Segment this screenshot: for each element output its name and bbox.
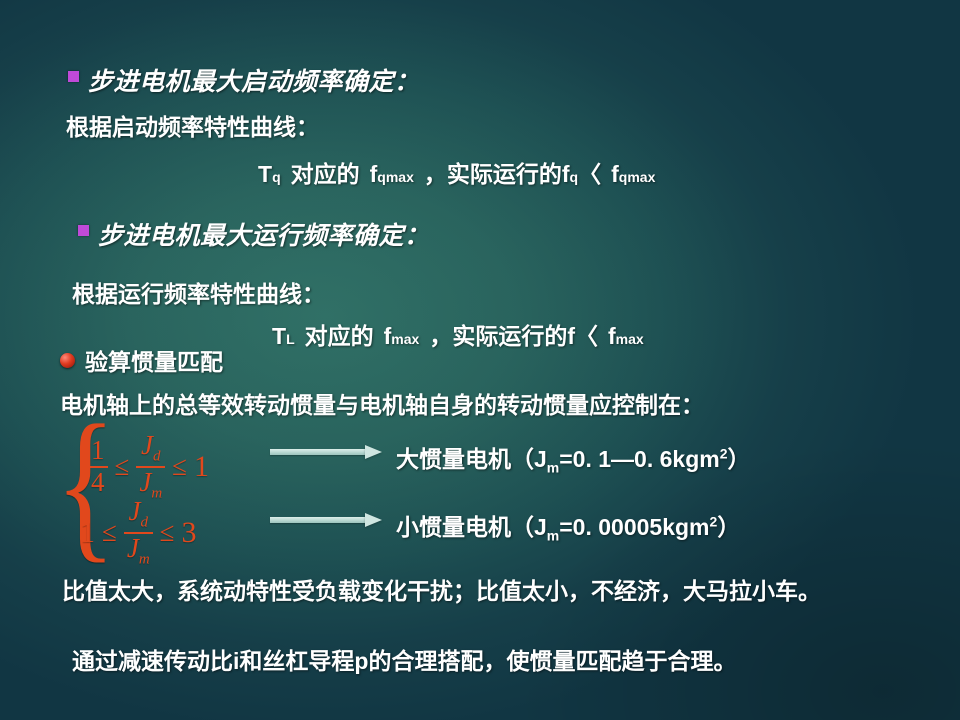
motor-label-2-name: 小惯量电机（J <box>396 514 547 540</box>
formula-2-relation: 〈 <box>575 317 598 351</box>
formula-2-bound-sub: max <box>616 331 644 347</box>
formula-2-tail: 实际运行的f <box>452 317 575 351</box>
equation-1-right: 1 <box>194 450 209 484</box>
formula-2-bound: f <box>608 323 616 350</box>
formula-1-lead: T <box>258 161 272 188</box>
equation-2-op1: ≤ <box>102 517 117 548</box>
intro-text-1: 根据启动频率特性曲线： <box>66 108 319 142</box>
formula-1-lead-sub: q <box>272 169 281 185</box>
red-ball-bullet-icon <box>60 353 75 368</box>
equation-1: 1 4 ≤ Jd Jm ≤ 1 <box>88 432 209 501</box>
motor-label-2-value: =0. 00005kgm <box>559 514 709 540</box>
formula-2-mid: 对应的 <box>305 317 374 351</box>
equation-1-numerator: Jd <box>138 432 163 465</box>
formula-1-relation: 〈 <box>578 155 601 189</box>
motor-label-2-sub: m <box>547 528 559 544</box>
arrow-right-icon-2 <box>270 513 382 526</box>
equation-2-op2: ≤ <box>160 517 175 548</box>
square-bullet-icon <box>68 71 79 82</box>
note-line-1: 比值太大，系统动特性受负载变化干扰；比值太小，不经济，大马拉小车。 <box>62 572 821 606</box>
equation-2: 1 ≤ Jd Jm ≤ 3 <box>80 498 196 567</box>
motor-label-1-close: ） <box>728 446 751 472</box>
motor-label-1-value: =0. 1—0. 6kgm <box>559 446 719 472</box>
formula-1-bound-sub: qmax <box>619 169 656 185</box>
square-bullet-icon <box>78 225 89 236</box>
inertia-bullet-row: 验算惯量匹配 <box>60 343 223 377</box>
heading-text-1: 步进电机最大启动频率确定： <box>88 62 420 98</box>
motor-label-1-sub: m <box>547 460 559 476</box>
motor-label-1-name: 大惯量电机（J <box>396 446 547 472</box>
heading-bullet-2: 步进电机最大运行频率确定： <box>78 216 430 252</box>
equation-1-denominator: Jm <box>136 469 165 502</box>
formula-1-tail-sub: q <box>570 169 579 185</box>
equation-2-numerator: Jd <box>126 498 151 531</box>
heading-bullet-1: 步进电机最大启动频率确定： <box>68 62 420 98</box>
equation-2-left: 1 <box>80 516 95 550</box>
equation-1-left-num: 1 <box>88 437 108 465</box>
equation-1-left-fraction: 1 4 <box>88 437 108 496</box>
note-line-2: 通过减速传动比i和丝杠导程p的合理搭配，使惯量匹配趋于合理。 <box>72 642 736 676</box>
motor-label-1-sup: 2 <box>720 445 728 461</box>
formula-1-mid: 对应的 <box>291 155 360 189</box>
equation-1-op1: ≤ <box>115 451 130 482</box>
inertia-math-block: { 1 4 ≤ Jd Jm ≤ 1 1 ≤ <box>55 414 385 554</box>
arrow-right-icon-1 <box>270 445 382 458</box>
intro-text-2: 根据运行频率特性曲线： <box>72 275 325 309</box>
motor-label-small-inertia: 小惯量电机（Jm=0. 00005kgm2） <box>396 508 740 544</box>
equation-2-right: 3 <box>181 516 196 550</box>
formula-line-2: TL 对应的 fmax ， 实际运行的f 〈 fmax <box>272 317 644 351</box>
formula-2-comma: ， <box>429 317 452 351</box>
motor-label-large-inertia: 大惯量电机（Jm=0. 1—0. 6kgm2） <box>396 440 751 476</box>
formula-2-target-sub: max <box>391 331 419 347</box>
formula-2-lead-sub: L <box>286 331 295 347</box>
heading-text-2: 步进电机最大运行频率确定： <box>98 216 430 252</box>
formula-1-bound: f <box>611 161 619 188</box>
equation-1-op2: ≤ <box>172 451 187 482</box>
formula-2-lead: T <box>272 323 286 350</box>
equation-1-left-den: 4 <box>88 469 108 497</box>
slide-content: 步进电机最大启动频率确定： 根据启动频率特性曲线： Tq 对应的 fqmax ，… <box>0 0 960 720</box>
motor-label-2-close: ） <box>717 514 740 540</box>
formula-line-1: Tq 对应的 fqmax ， 实际运行的fq 〈 fqmax <box>258 155 655 189</box>
equation-2-denominator: Jm <box>124 535 153 568</box>
formula-1-target-sub: qmax <box>377 169 414 185</box>
slide-canvas: 步进电机最大启动频率确定： 根据启动频率特性曲线： Tq 对应的 fqmax ，… <box>0 0 960 720</box>
inertia-bullet-label: 验算惯量匹配 <box>85 343 223 377</box>
equation-1-ratio: Jd Jm <box>136 432 165 501</box>
formula-1-tail: 实际运行的f <box>447 155 570 189</box>
equation-2-ratio: Jd Jm <box>124 498 153 567</box>
formula-1-comma: ， <box>424 155 447 189</box>
